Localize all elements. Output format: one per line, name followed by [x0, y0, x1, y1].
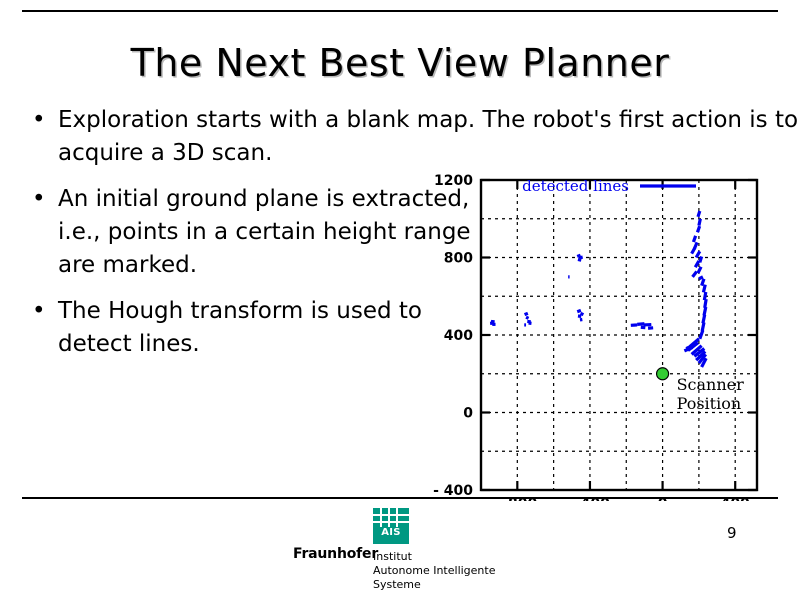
data-line-segment — [699, 219, 700, 226]
footer-divider — [22, 497, 778, 499]
y-tick-label: 1200 — [434, 173, 473, 189]
list-item-text: Exploration starts with a blank map. The… — [58, 104, 800, 170]
data-line-segment — [704, 307, 706, 316]
y-tick-label: 400 — [444, 328, 473, 344]
list-item: • Exploration starts with a blank map. T… — [20, 104, 800, 170]
bullet-marker: • — [32, 183, 46, 216]
data-line-segment — [637, 324, 644, 325]
institute-line-2: Autonome Intelligente — [373, 564, 496, 578]
data-line-segment — [526, 317, 529, 318]
data-line-segment — [693, 236, 695, 242]
scanner-position-marker-icon — [657, 368, 669, 380]
data-line-segment — [698, 211, 700, 217]
detected-lines-scatter-plot: - 40004008001200- 800- 4000400detected l… — [424, 166, 784, 501]
list-item-text: An initial ground plane is extracted, i.… — [58, 183, 478, 282]
data-line-segment — [703, 285, 705, 293]
page-number: 9 — [727, 524, 737, 542]
data-line-segment — [700, 257, 702, 263]
bullet-marker: • — [32, 104, 46, 137]
institute-name: Institut Autonome Intelligente Systeme — [373, 550, 496, 592]
ais-badge-label: AIS — [373, 527, 409, 538]
scanner-position-label: Scanner — [677, 375, 745, 394]
data-line-segment — [577, 310, 581, 311]
fraunhofer-wordmark: Fraunhofer — [293, 546, 378, 562]
data-line-segment — [703, 315, 705, 324]
ais-badge-icon: AIS — [373, 508, 409, 544]
list-item-text: The Hough transform is used to detect li… — [58, 295, 478, 361]
data-line-segment — [578, 259, 581, 260]
y-tick-label: 800 — [444, 251, 473, 267]
page-title: The Next Best View Planner — [0, 41, 800, 85]
data-line-segment — [697, 226, 699, 232]
bullet-marker: • — [32, 295, 46, 328]
list-item: • An initial ground plane is extracted, … — [20, 183, 478, 282]
data-line-segment — [581, 313, 584, 314]
institute-line-3: Systeme — [373, 578, 496, 592]
header-divider — [22, 10, 778, 12]
scanner-position-label: Position — [677, 394, 742, 413]
institute-line-1: Institut — [373, 550, 496, 564]
data-line-segment — [525, 313, 528, 314]
data-line-segment — [705, 299, 706, 308]
list-item: • The Hough transform is used to detect … — [20, 295, 478, 361]
legend-label: detected lines — [522, 177, 629, 195]
y-tick-label: 0 — [463, 406, 473, 422]
data-line-segment — [579, 257, 582, 258]
fraunhofer-logo: AIS Fraunhofer Institut Autonome Intelli… — [293, 508, 593, 594]
plot-background — [481, 180, 757, 490]
data-line-segment — [702, 322, 704, 331]
data-line-segment — [699, 277, 703, 279]
data-line-segment — [704, 292, 705, 300]
